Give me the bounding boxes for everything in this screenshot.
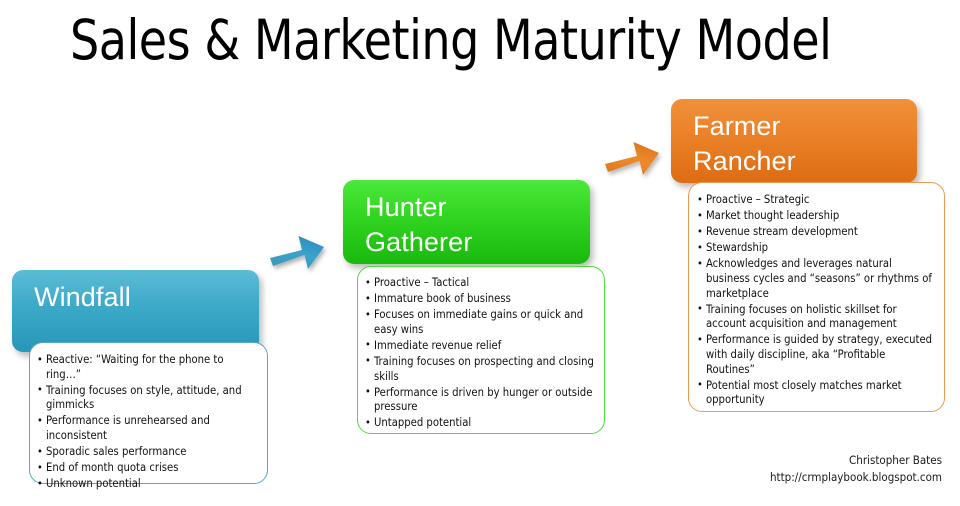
list-item: Proactive – Tactical — [365, 276, 594, 291]
list-item: Focuses on immediate gains or quick and … — [365, 308, 594, 337]
stage-title-farmer-line1: Farmer — [693, 109, 917, 144]
stage-title-hunter-line1: Hunter — [365, 190, 590, 225]
list-item: Acknowledges and leverages natural busin… — [697, 257, 934, 301]
list-item: Market thought leadership — [697, 209, 934, 224]
list-item: Performance is guided by strategy, execu… — [697, 333, 934, 377]
stage-header-windfall[interactable]: Windfall — [12, 270, 259, 352]
stage-header-farmer-rancher[interactable]: Farmer Rancher — [671, 99, 917, 183]
list-item: Performance is driven by hunger or outsi… — [365, 386, 594, 415]
stage-card-farmer-rancher: Proactive – Strategic Market thought lea… — [688, 182, 945, 412]
stage-bullets-hunter-gatherer: Proactive – Tactical Immature book of bu… — [358, 267, 604, 431]
stage-title-windfall: Windfall — [34, 282, 131, 312]
stage-header-hunter-gatherer[interactable]: Hunter Gatherer — [343, 180, 590, 264]
credit-block: Christopher Bates http://crmplaybook.blo… — [770, 452, 942, 486]
stage-card-windfall: Reactive: “Waiting for the phone to ring… — [29, 342, 268, 484]
list-item: Performance is unrehearsed and inconsist… — [37, 414, 259, 443]
list-item: Proactive – Strategic — [697, 193, 934, 208]
credit-author: Christopher Bates — [770, 452, 942, 469]
slide-canvas: Sales & Marketing Maturity Model — [0, 0, 960, 506]
list-item: Untapped potential — [365, 416, 594, 431]
stage-bullets-farmer-rancher: Proactive – Strategic Market thought lea… — [689, 183, 944, 408]
list-item: Training focuses on prospecting and clos… — [365, 355, 594, 384]
stage-card-hunter-gatherer: Proactive – Tactical Immature book of bu… — [357, 266, 605, 434]
list-item: End of month quota crises — [37, 461, 259, 476]
list-item: Immediate revenue relief — [365, 339, 594, 354]
list-item: Sporadic sales performance — [37, 445, 259, 460]
list-item: Potential most closely matches market op… — [697, 379, 934, 408]
page-title: Sales & Marketing Maturity Model — [70, 8, 831, 72]
list-item: Stewardship — [697, 241, 934, 256]
list-item: Reactive: “Waiting for the phone to ring… — [37, 353, 259, 382]
list-item: Unknown potential — [37, 477, 259, 492]
right-arrow-icon — [601, 134, 663, 182]
stage-bullets-windfall: Reactive: “Waiting for the phone to ring… — [30, 343, 267, 492]
list-item: Training focuses on style, attitude, and… — [37, 384, 259, 413]
stage-title-farmer-line2: Rancher — [693, 144, 917, 179]
list-item: Training focuses on holistic skillset fo… — [697, 303, 934, 332]
list-item: Revenue stream development — [697, 225, 934, 240]
right-arrow-icon — [266, 228, 328, 276]
stage-title-hunter-line2: Gatherer — [365, 225, 590, 260]
credit-url[interactable]: http://crmplaybook.blogspot.com — [770, 469, 942, 486]
list-item: Immature book of business — [365, 292, 594, 307]
